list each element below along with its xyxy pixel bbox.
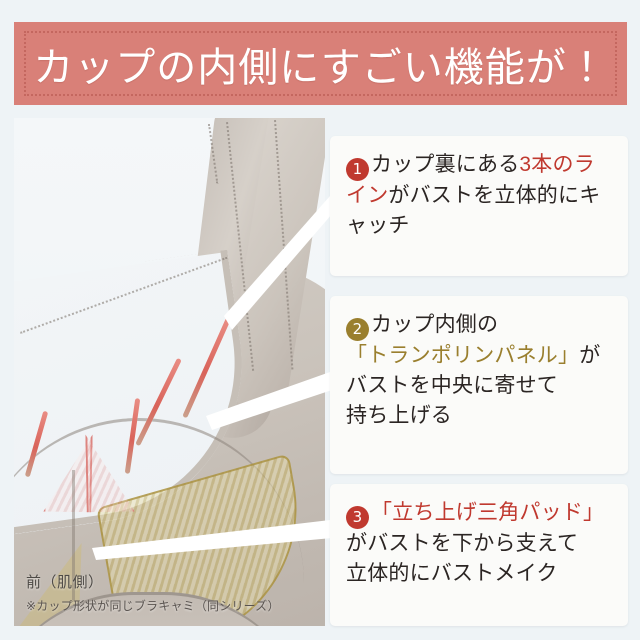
callout-2-part-e: 持ち上げる <box>346 404 452 427</box>
header-banner: カップの内側にすごい機能が！ <box>14 22 627 105</box>
callout-1-badge: 1 <box>346 158 369 181</box>
callout-2-badge: 2 <box>346 318 369 341</box>
callout-2-text: 2カップ内側の「トランポリンパネル」がバストを中央に寄せて持ち上げる <box>346 310 614 430</box>
callout-card-3[interactable]: 3「立ち上げ三角パッド」がバストを下から支えて立体的にバストメイク <box>330 484 628 626</box>
callout-2-part-c: が <box>579 344 600 367</box>
photo-caption-note: ※カップ形状が同じブラキャミ（同シリーズ） <box>26 597 280 614</box>
callout-3-part-b: がバストを下から支えて <box>346 532 578 555</box>
callout-card-1[interactable]: 1カップ裏にある3本のラインがバストを立体的にキャッチ <box>330 136 628 276</box>
callout-3-part-a: 「立ち上げ三角パッド」 <box>371 501 604 524</box>
product-photo: 前（肌側） ※カップ形状が同じブラキャミ（同シリーズ） <box>14 118 325 626</box>
callout-3-text: 3「立ち上げ三角パッド」がバストを下から支えて立体的にバストメイク <box>346 498 614 589</box>
callout-3-badge: 3 <box>346 506 369 529</box>
callout-2-part-d: バストを中央に寄せて <box>346 374 558 397</box>
photo-caption: 前（肌側） <box>26 571 104 592</box>
callout-card-2[interactable]: 2カップ内側の「トランポリンパネル」がバストを中央に寄せて持ち上げる <box>330 296 628 474</box>
infographic-page: カップの内側にすごい機能が！ 前（肌側） ※カップ形状が同じブラキャミ（同シリー… <box>0 0 640 640</box>
callout-1-part-a: カップ裏にある <box>371 153 519 176</box>
callout-3-part-c: 立体的にバストメイク <box>346 562 558 585</box>
callout-1-part-d: がバストを立体的 <box>388 184 558 207</box>
page-title: カップの内側にすごい機能が！ <box>14 35 627 93</box>
callout-1-part-b: 3本の <box>519 153 573 176</box>
callout-2-part-b: 「トランポリンパネル」 <box>346 344 579 367</box>
callout-2-part-a: カップ内側の <box>371 313 498 336</box>
callout-1-text: 1カップ裏にある3本のラインがバストを立体的にキャッチ <box>346 150 614 241</box>
